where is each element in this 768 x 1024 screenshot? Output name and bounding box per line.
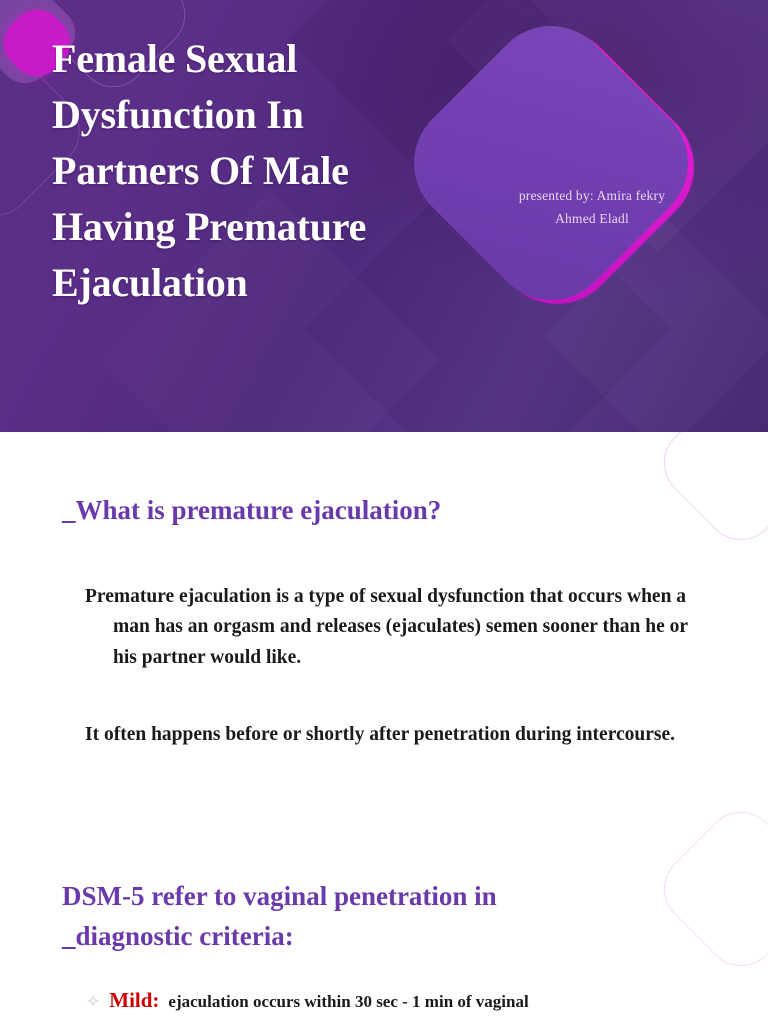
body-paragraph: Premature ejaculation is a type of sexua… [85, 582, 713, 674]
decorative-diamond-outline-icon [649, 797, 768, 981]
slide-content-area: _What is premature ejaculation? Prematur… [0, 432, 768, 1024]
heading-text-line-1: DSM-5 refer to vaginal penetration in [62, 881, 497, 911]
presenter-credit-line-2: Ahmed Eladl [434, 207, 750, 230]
presenter-credit: presented by: Amira fekry Ahmed Eladl [434, 184, 750, 230]
diamond-body-shape [388, 0, 713, 325]
heading-text: What is premature ejaculation? [76, 495, 442, 525]
body-paragraph: It often happens before or shortly after… [85, 720, 701, 751]
severity-description: ejaculation occurs within 30 sec - 1 min… [168, 991, 528, 1013]
section-heading-dsm5-criteria: DSM-5 refer to vaginal penetration in _d… [62, 876, 662, 956]
list-item: ✧ Mild: ejaculation occurs within 30 sec… [86, 988, 726, 1013]
slide-header-banner: Female Sexual Dysfunction In Partners Of… [0, 0, 768, 432]
diamond-sparkle-bullet-icon: ✧ [86, 992, 100, 1012]
heading-text-line-2: diagnostic criteria: [76, 921, 294, 951]
heading-leading-underscore: _ [62, 495, 76, 525]
page-title: Female Sexual Dysfunction In Partners Of… [52, 31, 452, 311]
severity-label-mild: Mild: [109, 988, 159, 1013]
presenter-credit-line-1: presented by: Amira fekry [434, 184, 750, 207]
presenter-diamond-panel: presented by: Amira fekry Ahmed Eladl [434, 42, 750, 372]
heading-leading-underscore: _ [62, 921, 76, 951]
section-heading-what-is-premature-ejaculation: _What is premature ejaculation? [62, 490, 682, 530]
